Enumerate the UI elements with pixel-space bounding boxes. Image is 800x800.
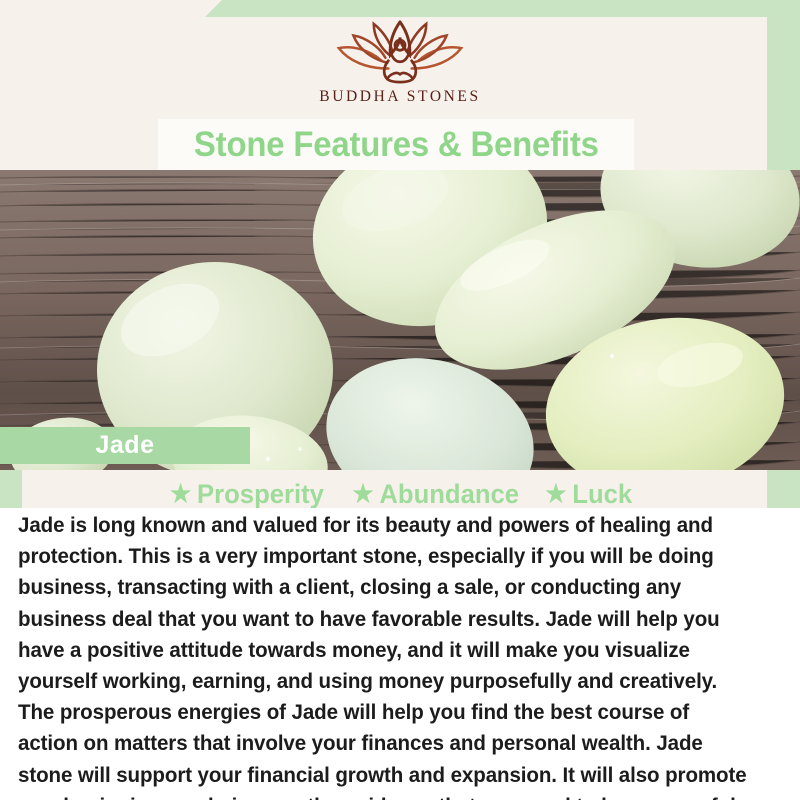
stone-name-label: Jade: [96, 431, 155, 460]
benefit-keywords: ★ Prosperity ★ Abundance ★ Luck: [0, 478, 800, 510]
brand-logo: BUDDHA STONES: [0, 18, 800, 118]
title-banner: Stone Features & Benefits: [158, 119, 634, 171]
page-title: Stone Features & Benefits: [194, 125, 599, 165]
description-text: Jade is long known and valued for its be…: [18, 510, 751, 800]
jade-stones-photo: [0, 170, 800, 470]
star-icon: ★: [545, 482, 566, 507]
keyword-label: Luck: [572, 479, 632, 510]
description-area: Jade is long known and valued for its be…: [0, 508, 800, 800]
keyword-prosperity: ★ Prosperity: [170, 479, 324, 510]
decorative-top-bar: [205, 0, 800, 17]
star-icon: ★: [352, 482, 373, 507]
keyword-abundance: ★ Abundance: [352, 479, 519, 510]
keyword-label: Prosperity: [197, 479, 324, 510]
infographic-page: BUDDHA STONES Stone Features & Benefits: [0, 0, 800, 800]
keyword-luck: ★ Luck: [545, 479, 632, 510]
stone-name-tab: Jade: [0, 427, 250, 464]
lotus-meditation-icon: [325, 18, 475, 86]
star-icon: ★: [170, 482, 191, 507]
photo-illustration: [0, 170, 800, 470]
keyword-label: Abundance: [379, 479, 519, 510]
brand-name: BUDDHA STONES: [319, 88, 480, 106]
